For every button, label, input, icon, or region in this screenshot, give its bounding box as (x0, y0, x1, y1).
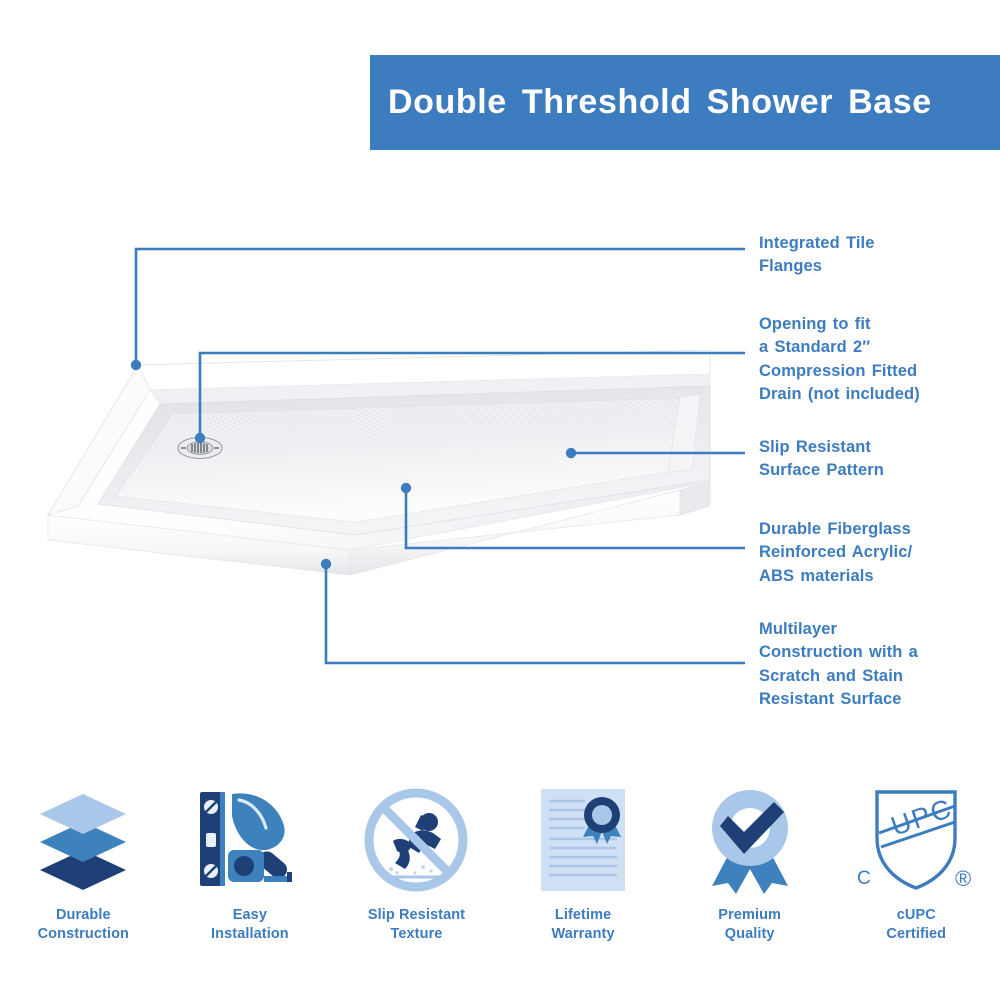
feature-lifetime-warranty: Lifetime Warranty (500, 780, 667, 943)
certificate-icon (533, 780, 633, 900)
callout-multilayer-construction: Multilayer Construction with a Scratch a… (759, 618, 994, 712)
upc-shield-icon: UPC C ® (855, 780, 977, 900)
shower-base-illustration (20, 330, 740, 610)
spirit-level-icon (200, 792, 225, 886)
drain-inner-ring (187, 442, 213, 455)
callout-line: Surface Pattern (759, 459, 994, 482)
header-banner: Double Threshold Shower Base (370, 55, 1000, 150)
feature-label: Lifetime Warranty (552, 906, 615, 943)
callout-line: a Standard 2″ (759, 336, 994, 359)
callout-line: Reinforced Acrylic/ (759, 541, 994, 564)
feature-label: Slip Resistant Texture (368, 906, 465, 943)
feature-label-line: Quality (718, 925, 781, 944)
feature-cupc-certified: UPC C ® cUPC Certified (833, 780, 1000, 943)
feature-label-line: Lifetime (552, 906, 615, 925)
callout-integrated-tile-flanges: Integrated Tile Flanges (759, 232, 994, 279)
ribbon-check-icon (698, 780, 802, 900)
feature-label-line: Slip Resistant (368, 906, 465, 925)
callout-durable-materials: Durable Fiberglass Reinforced Acrylic/ A… (759, 518, 994, 588)
product-image (20, 330, 740, 610)
layers-icon (28, 780, 138, 900)
callout-line: Integrated Tile (759, 232, 994, 255)
layer-top (40, 794, 126, 834)
callout-line: Scratch and Stain (759, 665, 994, 688)
feature-durable-construction: Durable Construction (0, 780, 167, 943)
feature-premium-quality: Premium Quality (666, 780, 833, 943)
feature-label-line: Certified (886, 925, 946, 944)
feature-label-line: Premium (718, 906, 781, 925)
callout-line: Opening to fit (759, 313, 994, 336)
callout-line: ABS materials (759, 565, 994, 588)
feature-label-line: Durable (38, 906, 129, 925)
shield-registered-mark: ® (955, 866, 971, 891)
callout-line: Resistant Surface (759, 688, 994, 711)
feature-label: Premium Quality (718, 906, 781, 943)
feature-label: Easy Installation (211, 906, 289, 943)
callout-line: Flanges (759, 255, 994, 278)
callout-drain-opening: Opening to fit a Standard 2″ Compression… (759, 313, 994, 407)
feature-label-line: Warranty (552, 925, 615, 944)
feature-label: cUPC Certified (886, 906, 946, 943)
callout-line: Slip Resistant (759, 436, 994, 459)
callout-line: Durable Fiberglass (759, 518, 994, 541)
splash-droplets (389, 865, 433, 875)
no-slip-icon (363, 780, 469, 900)
feature-easy-installation: Easy Installation (167, 780, 334, 943)
callout-slip-resistant-surface-pattern: Slip Resistant Surface Pattern (759, 436, 994, 483)
callout-line: Compression Fitted (759, 360, 994, 383)
page-title: Double Threshold Shower Base (370, 83, 932, 122)
drain-opening-icon (178, 438, 222, 459)
callout-line: Multilayer (759, 618, 994, 641)
feature-label: Durable Construction (38, 906, 129, 943)
feature-label-line: Texture (368, 925, 465, 944)
callout-line: Drain (not included) (759, 383, 994, 406)
shield-left-mark: C (857, 868, 871, 889)
feature-label-line: Construction (38, 925, 129, 944)
feature-label-line: Installation (211, 925, 289, 944)
feature-label-line: Easy (211, 906, 289, 925)
feature-label-line: cUPC (886, 906, 946, 925)
feature-strip: Durable Construction (0, 780, 1000, 980)
feature-slip-resistant-texture: Slip Resistant Texture (333, 780, 500, 943)
level-trowel-tape-icon (194, 780, 306, 900)
callout-line: Construction with a (759, 641, 994, 664)
